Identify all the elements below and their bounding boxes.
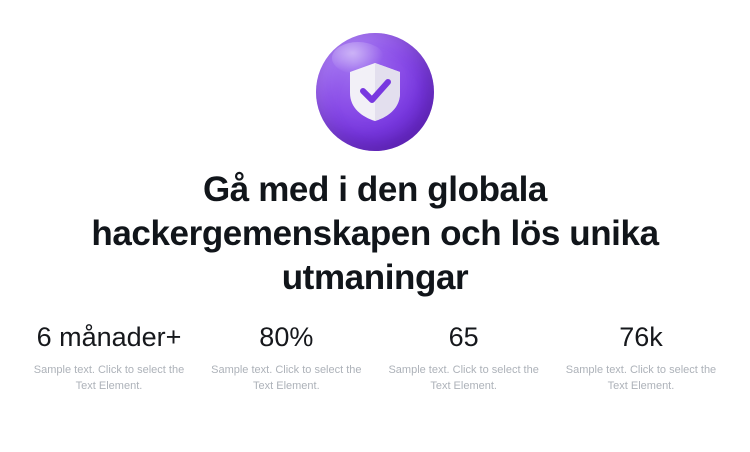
badge-container: [313, 30, 437, 154]
stats-row: 6 månader+ Sample text. Click to select …: [25, 321, 725, 395]
stat-description[interactable]: Sample text. Click to select the Text El…: [380, 363, 548, 395]
stat-item: 76k Sample text. Click to select the Tex…: [557, 321, 725, 395]
stat-description[interactable]: Sample text. Click to select the Text El…: [557, 363, 725, 395]
shield-check-icon: [345, 60, 405, 124]
stat-description[interactable]: Sample text. Click to select the Text El…: [25, 363, 193, 395]
page-title: Gå med i den globala hackergemenskapen o…: [55, 168, 695, 299]
page-root: Gå med i den globala hackergemenskapen o…: [0, 0, 750, 452]
stat-item: 65 Sample text. Click to select the Text…: [380, 321, 548, 395]
stat-item: 80% Sample text. Click to select the Tex…: [202, 321, 370, 395]
shield-badge: [316, 33, 434, 151]
stat-description[interactable]: Sample text. Click to select the Text El…: [202, 363, 370, 395]
stat-number: 6 månader+: [25, 321, 193, 355]
stat-item: 6 månader+ Sample text. Click to select …: [25, 321, 193, 395]
stat-number: 76k: [557, 321, 725, 355]
stat-number: 80%: [202, 321, 370, 355]
stat-number: 65: [380, 321, 548, 355]
